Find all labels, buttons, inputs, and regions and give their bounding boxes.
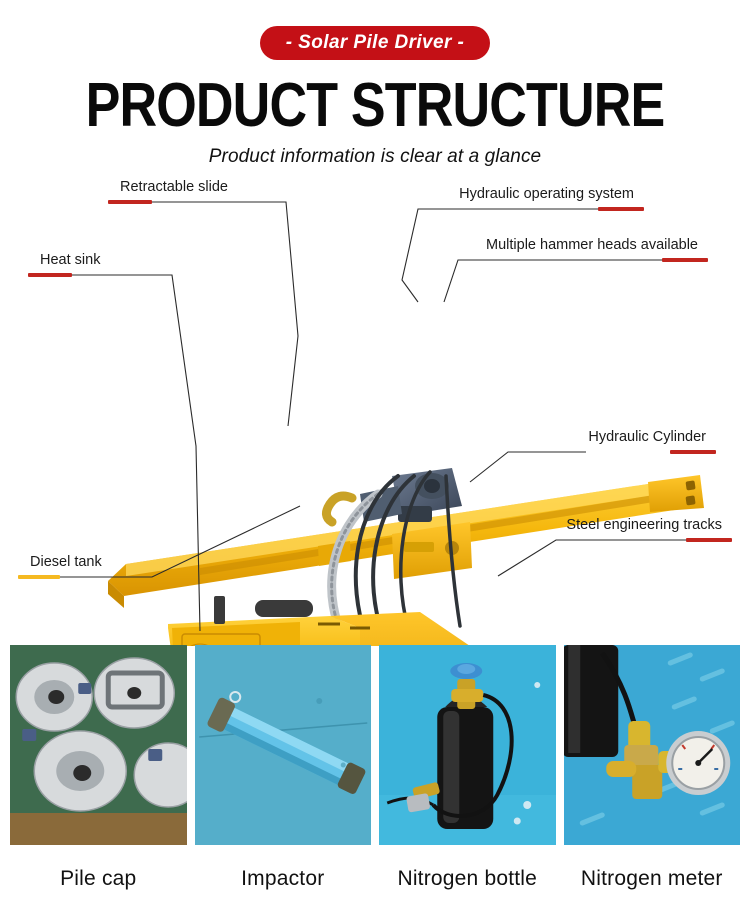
callout-accent-rule [598, 207, 644, 211]
nitrogen-meter-photo[interactable] [564, 645, 741, 845]
callout-label: Steel engineering tracks [490, 517, 722, 534]
callout-diesel-tank: Diesel tank [18, 554, 102, 579]
callout-label: Hydraulic operating system [404, 186, 634, 203]
gallery-item-label: Nitrogen meter [564, 867, 741, 891]
callout-hydraulic-cylinder: Hydraulic Cylinder [520, 429, 716, 454]
callout-steel-engineering-tracks: Steel engineering tracks [490, 517, 732, 542]
gallery-item-nitrogen-bottle[interactable]: Nitrogen bottle [379, 645, 556, 912]
gallery-item-impactor[interactable]: Impactor [195, 645, 372, 912]
page-title: PRODUCT STRUCTURE [60, 77, 690, 134]
callout-hydraulic-operating-system: Hydraulic operating system [404, 186, 644, 211]
callout-label: Diesel tank [30, 554, 102, 571]
callout-retractable-slide: Retractable slide [108, 179, 228, 204]
callout-accent-rule [28, 273, 72, 277]
machine-body [168, 596, 470, 646]
callout-multiple-hammer-heads: Multiple hammer heads available [440, 237, 708, 262]
callout-label: Heat sink [40, 252, 100, 269]
callout-label: Multiple hammer heads available [440, 237, 698, 254]
accessory-gallery: Pile cap Impactor [0, 645, 750, 912]
callout-accent-rule [108, 200, 152, 204]
callout-accent-rule [686, 538, 732, 542]
callout-accent-rule [18, 575, 60, 579]
gallery-item-label: Nitrogen bottle [379, 867, 556, 891]
product-category-badge: - Solar Pile Driver - [260, 26, 490, 60]
nitrogen-bottle-photo[interactable] [379, 645, 556, 845]
gallery-item-label: Impactor [195, 867, 372, 891]
callout-heat-sink: Heat sink [28, 252, 100, 277]
callout-label: Hydraulic Cylinder [520, 429, 706, 446]
callout-accent-rule [662, 258, 708, 262]
gallery-item-nitrogen-meter[interactable]: Nitrogen meter [564, 645, 741, 912]
impactor-photo[interactable] [195, 645, 372, 845]
callout-accent-rule [670, 450, 716, 454]
page-subtitle: Product information is clear at a glance [0, 146, 750, 168]
product-structure-diagram: Retractable slide Heat sink Diesel tank … [0, 176, 750, 646]
gallery-item-pile-cap[interactable]: Pile cap [10, 645, 187, 912]
callout-label: Retractable slide [120, 179, 228, 196]
page-header: - Solar Pile Driver - PRODUCT STRUCTURE … [0, 0, 750, 168]
pile-cap-photo[interactable] [10, 645, 187, 845]
gallery-item-label: Pile cap [10, 867, 187, 891]
